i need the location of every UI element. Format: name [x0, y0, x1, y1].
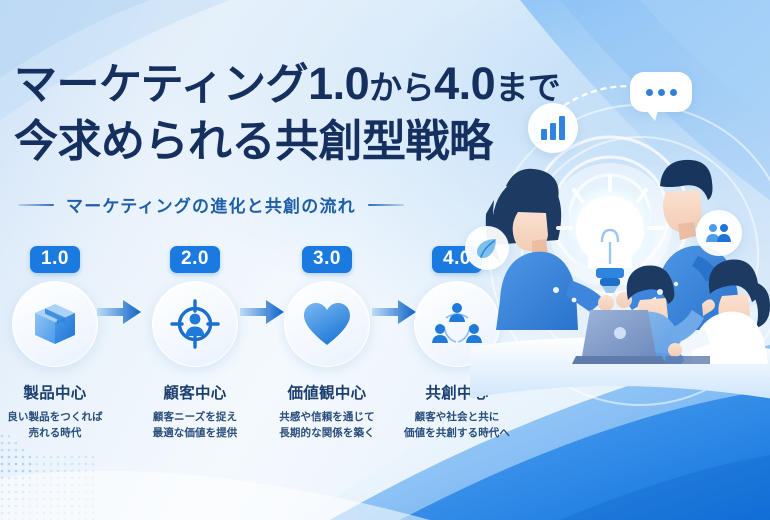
subtitle: マーケティングの進化と共創の流れ	[18, 192, 404, 217]
chat-dots-icon	[670, 89, 677, 96]
step-desc-2-line-1: 顧客ニーズを捉え	[129, 410, 261, 426]
step-title-2: 顧客中心	[129, 381, 261, 403]
subtitle-dash-left-icon	[18, 204, 54, 206]
headline-part-a: マーケティング	[14, 61, 308, 109]
step-desc-2: 顧客ニーズを捉え 最適な価値を提供	[129, 410, 261, 442]
step-item-2: 2.0 顧客中心 顧客ニーズを捉	[129, 246, 261, 442]
leaf-icon	[475, 236, 499, 260]
bubble-people	[696, 210, 742, 256]
step-desc-1: 良い製品をつくれば 売れる時代	[0, 410, 121, 442]
bubble-chat	[630, 72, 692, 112]
people-group-icon	[706, 223, 732, 243]
chat-dots-icon	[658, 89, 665, 96]
step-desc-1-line-2: 売れる時代	[0, 426, 121, 442]
step-badge-3: 3.0	[302, 246, 352, 273]
evolution-step-list: 1.0 製品中心	[0, 246, 520, 476]
step-icon-circle-2	[152, 281, 238, 367]
illustration-scene	[470, 0, 770, 520]
step-desc-2-line-2: 最適な価値を提供	[129, 426, 261, 442]
step-desc-1-line-1: 良い製品をつくれば	[0, 410, 121, 426]
step-item-1: 1.0 製品中心	[0, 246, 121, 442]
chat-dots-icon	[646, 89, 653, 96]
step-icon-circle-3	[284, 281, 370, 367]
step-desc-3: 共感や信頼を通じて 長期的な関係を築く	[261, 410, 393, 442]
step-item-3: 3.0 価値観中心 共感や信頼を通じて 長期的な関係を築く	[261, 246, 393, 442]
box-icon	[30, 299, 80, 349]
step-title-1: 製品中心	[0, 381, 121, 403]
subtitle-text: マーケティングの進化と共創の流れ	[66, 192, 356, 217]
bubble-bar-chart	[528, 103, 578, 153]
step-title-3: 価値観中心	[261, 381, 393, 403]
headline-part-b: から	[369, 69, 434, 106]
headline-version-from: 1.0	[308, 58, 369, 109]
subtitle-dash-right-icon	[368, 204, 404, 206]
heart-icon	[302, 301, 352, 347]
step-icon-circle-1	[12, 281, 98, 367]
target-person-icon	[169, 298, 221, 350]
bubble-leaf	[465, 226, 509, 270]
step-desc-3-line-2: 長期的な関係を築く	[261, 426, 393, 442]
infographic-canvas: マーケティング1.0から4.0まで 今求められる共創型戦略 マーケティングの進化…	[0, 0, 770, 520]
step-desc-3-line-1: 共感や信頼を通じて	[261, 410, 393, 426]
bar-chart-icon	[540, 116, 566, 140]
step-badge-2: 2.0	[170, 246, 220, 273]
step-badge-1: 1.0	[30, 246, 80, 273]
illustration	[470, 0, 770, 520]
